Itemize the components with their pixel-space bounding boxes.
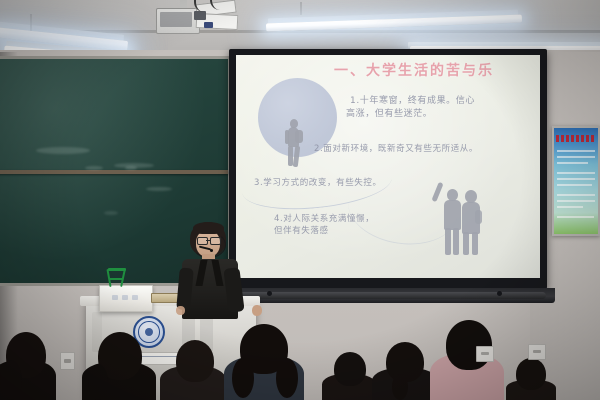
chalk-residue: [104, 211, 118, 215]
audience-hair: [232, 358, 254, 398]
chalk-residue: [85, 166, 103, 170]
silhouette-arm-waving: [431, 182, 443, 202]
stand-crossbar: [108, 268, 126, 271]
silhouette-torso: [444, 200, 461, 230]
audience-hair: [392, 374, 408, 400]
light-stem: [300, 2, 302, 15]
notice-text-line: [557, 200, 595, 202]
power-outlet[interactable]: [476, 346, 494, 362]
slide-point-4b: 但伴有失落感: [274, 225, 329, 237]
projection-screen: 一、大学生活的苦与乐 1.十年寒窗，终有成果。信心 高涨，但有些迷茫。 2.面对…: [236, 55, 540, 278]
lecturer: [168, 222, 264, 322]
box-marking: [122, 295, 128, 300]
student-backpack-silhouette: [282, 119, 306, 167]
switch-rocker: [64, 359, 71, 363]
notice-text-line: [557, 206, 583, 208]
ceiling-projector: [150, 2, 236, 44]
silhouette-backpack: [295, 130, 303, 143]
projector-lens: [194, 11, 206, 20]
green-stand: [106, 267, 132, 287]
chalk-residue: [125, 166, 137, 170]
silhouette-leg: [463, 232, 469, 255]
headset-mic-tip: [210, 249, 213, 252]
audience-head: [334, 352, 366, 386]
chalk-tray-rail: [0, 170, 228, 174]
audience-hair: [0, 360, 22, 400]
notice-text-line: [557, 178, 595, 180]
screen-bracket: [267, 291, 272, 296]
slide-point-3: 3.学习方式的改变，有些失控。: [254, 177, 382, 189]
audience-hair: [88, 364, 108, 400]
screen-bracket: [497, 291, 502, 296]
audience-head: [176, 340, 214, 382]
two-people-silhouette: [432, 177, 492, 255]
audience-head: [516, 358, 546, 390]
projector-connector: [204, 22, 213, 28]
outlet-slot: [533, 350, 542, 353]
notice-text-line: [557, 216, 594, 218]
silhouette-leg: [293, 146, 301, 167]
silhouette-leg: [445, 228, 451, 255]
slide-point-1b: 高涨，但有些迷茫。: [346, 108, 432, 121]
wall-notice-board: [552, 126, 600, 236]
slide-point-1: 1.十年寒窗，终有成果。信心: [350, 95, 475, 108]
notice-content: [554, 128, 598, 234]
notice-text-line: [557, 156, 595, 158]
silhouette-arm: [285, 130, 289, 144]
notice-text-line: [557, 172, 595, 174]
box-marking: [132, 295, 138, 300]
chalk-residue: [146, 187, 172, 191]
slide-title: 一、大学生活的苦与乐: [334, 60, 494, 80]
slide-point-2: 2.面对新环境，既新奇又有些无所适从。: [314, 143, 478, 155]
box-marking: [112, 295, 118, 300]
silhouette-leg: [472, 232, 478, 255]
notice-text-line: [557, 162, 588, 164]
classroom-photo: 一、大学生活的苦与乐 1.十年寒窗，终有成果。信心 高涨，但有些迷茫。 2.面对…: [0, 0, 600, 400]
light-stem: [30, 14, 32, 32]
white-box[interactable]: [99, 285, 153, 312]
slide-point-4: 4.对人际关系充满憧憬，: [274, 213, 374, 225]
audience-head: [446, 320, 492, 370]
chalk-residue: [36, 147, 90, 154]
lecturer-hand-left: [176, 306, 185, 315]
audience-hair: [276, 358, 298, 398]
notice-heading: [556, 135, 596, 142]
power-outlet[interactable]: [528, 344, 546, 360]
silhouette-leg: [453, 228, 459, 255]
projector-vent: [160, 12, 192, 27]
outlet-slot: [481, 352, 490, 355]
notice-text-line: [557, 194, 595, 196]
notice-text-line: [557, 150, 595, 152]
stand-crossbar: [109, 278, 123, 280]
notice-text-line: [557, 184, 592, 186]
light-switch[interactable]: [60, 352, 75, 370]
audience-row: [0, 320, 600, 400]
lecturer-hand-right: [252, 305, 262, 316]
silhouette-bag: [475, 210, 482, 224]
